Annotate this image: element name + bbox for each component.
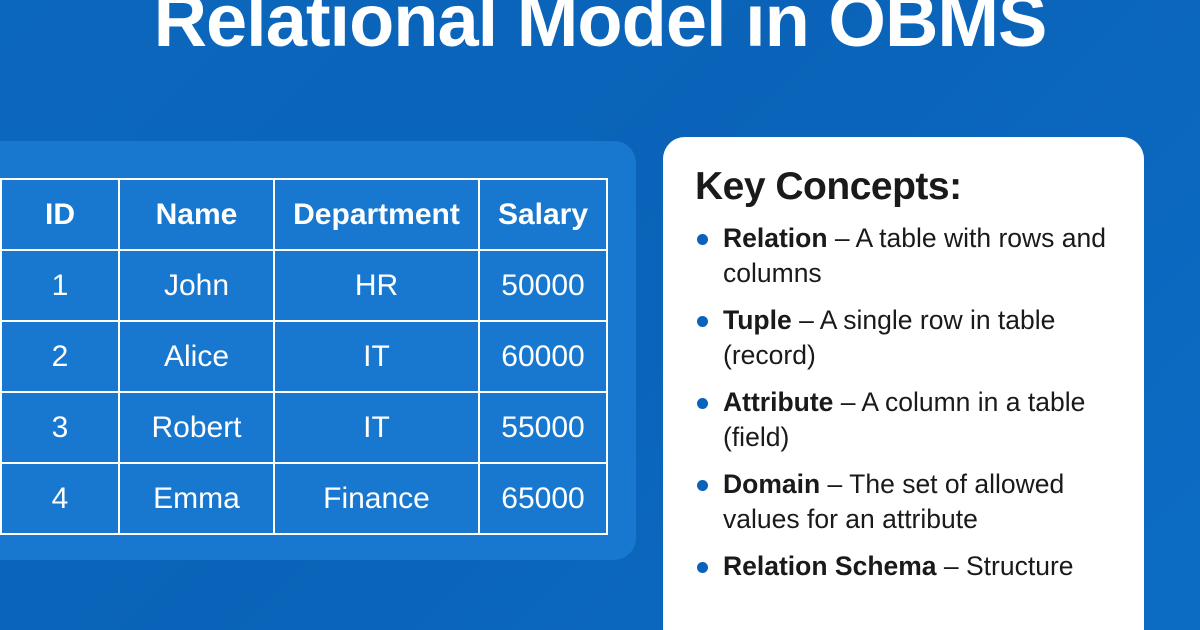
list-item: Tuple – A single row in table (record) [693, 303, 1118, 373]
table-cell-id: 3 [1, 392, 119, 463]
table-cell-name: John [119, 250, 274, 321]
list-item: Relation Schema – Structure [693, 549, 1118, 584]
concept-description: – Structure [937, 551, 1074, 581]
table-cell-id: 2 [1, 321, 119, 392]
relation-table-card: ID Name Department Salary 1 John HR 5000… [0, 141, 636, 560]
table-row: 4 Emma Finance 65000 [1, 463, 607, 534]
table-cell-name: Emma [119, 463, 274, 534]
table-cell-department: Finance [274, 463, 479, 534]
table-cell-department: HR [274, 250, 479, 321]
relation-table: ID Name Department Salary 1 John HR 5000… [0, 178, 608, 535]
relation-table-wrapper: ID Name Department Salary 1 John HR 5000… [0, 178, 606, 535]
table-column-header-salary: Salary [479, 179, 607, 250]
table-column-header-department: Department [274, 179, 479, 250]
page-title: Relational Model in OBMS [0, 0, 1200, 58]
bullet-icon [697, 480, 708, 491]
concept-term: Relation Schema [723, 551, 937, 581]
table-header-row: ID Name Department Salary [1, 179, 607, 250]
table-row: 1 John HR 50000 [1, 250, 607, 321]
table-cell-salary: 65000 [479, 463, 607, 534]
concept-term: Attribute [723, 387, 833, 417]
list-item: Domain – The set of allowed values for a… [693, 467, 1118, 537]
bullet-icon [697, 316, 708, 327]
table-cell-department: IT [274, 321, 479, 392]
concept-term: Relation [723, 223, 828, 253]
key-concepts-card: Key Concepts: Relation – A table with ro… [663, 137, 1144, 630]
table-cell-name: Robert [119, 392, 274, 463]
concept-term: Domain [723, 469, 820, 499]
concept-term: Tuple [723, 305, 792, 335]
list-item: Attribute – A column in a table (field) [693, 385, 1118, 455]
list-item: Relation – A table with rows and columns [693, 221, 1118, 291]
table-cell-salary: 50000 [479, 250, 607, 321]
bullet-icon [697, 398, 708, 409]
table-cell-id: 4 [1, 463, 119, 534]
table-row: 2 Alice IT 60000 [1, 321, 607, 392]
table-row: 3 Robert IT 55000 [1, 392, 607, 463]
table-cell-name: Alice [119, 321, 274, 392]
key-concepts-list: Relation – A table with rows and columns… [693, 221, 1118, 584]
bullet-icon [697, 562, 708, 573]
table-cell-salary: 55000 [479, 392, 607, 463]
bullet-icon [697, 234, 708, 245]
table-cell-salary: 60000 [479, 321, 607, 392]
right-background-edge [1144, 0, 1200, 630]
table-column-header-id: ID [1, 179, 119, 250]
key-concepts-heading: Key Concepts: [695, 165, 1118, 209]
table-cell-id: 1 [1, 250, 119, 321]
infographic-page: Relational Model in OBMS ID Name Departm… [0, 0, 1200, 630]
table-cell-department: IT [274, 392, 479, 463]
table-column-header-name: Name [119, 179, 274, 250]
